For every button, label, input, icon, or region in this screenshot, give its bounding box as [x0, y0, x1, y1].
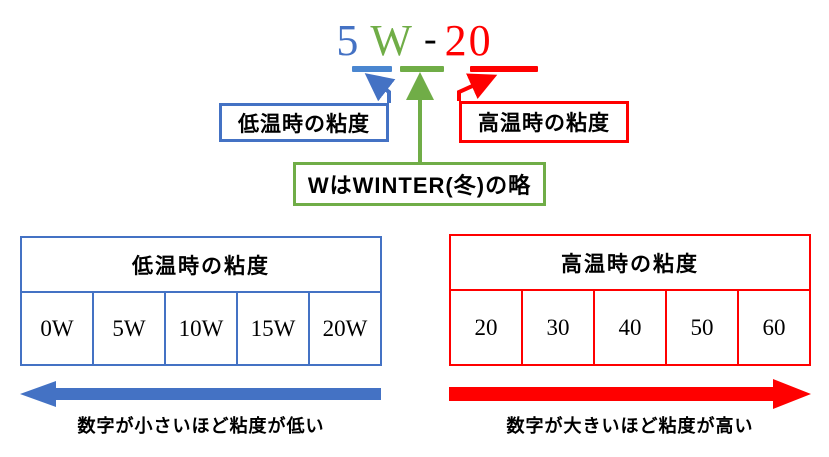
- hot-grade-cell: 20: [451, 291, 521, 364]
- diagram-canvas: 5W-20 低温時の粘度 高温時の粘度 WはWINTER(冬)の: [0, 0, 829, 457]
- hot-viscosity-callout-label: 高温時の粘度: [478, 107, 610, 137]
- cold-callout-connector: [371, 78, 389, 103]
- increasing-viscosity-caption: 数字が大きいほど粘度が高い: [449, 412, 811, 438]
- decreasing-viscosity-arrow: [20, 381, 381, 407]
- formula-cold-grade: 5: [336, 18, 360, 64]
- hot-viscosity-table-row: 20 30 40 50 60: [451, 291, 809, 364]
- hot-grade-cell: 60: [737, 291, 809, 364]
- decreasing-viscosity-caption: 数字が小さいほど粘度が低い: [20, 412, 382, 438]
- formula-winter-letter: W: [370, 18, 414, 64]
- hot-callout-connector: [459, 78, 490, 101]
- formula-dash: -: [424, 16, 439, 62]
- formula-hot-grade: 20: [445, 18, 493, 64]
- cold-viscosity-callout: 低温時の粘度: [219, 103, 389, 142]
- hot-grade-underline: [470, 66, 538, 72]
- winter-abbreviation-callout: WはWINTER(冬)の略: [293, 162, 546, 206]
- cold-grade-cell: 10W: [164, 293, 236, 364]
- winter-abbreviation-callout-label: WはWINTER(冬)の略: [308, 168, 531, 200]
- hot-viscosity-callout: 高温時の粘度: [459, 101, 629, 143]
- cold-viscosity-callout-label: 低温時の粘度: [238, 108, 370, 138]
- cold-grade-cell: 5W: [92, 293, 164, 364]
- cold-grade-cell: 15W: [236, 293, 308, 364]
- hot-viscosity-table: 高温時の粘度 20 30 40 50 60: [449, 234, 811, 366]
- cold-grade-cell: 20W: [308, 293, 380, 364]
- hot-grade-cell: 30: [521, 291, 593, 364]
- cold-viscosity-table-row: 0W 5W 10W 15W 20W: [22, 293, 380, 364]
- cold-viscosity-table: 低温時の粘度 0W 5W 10W 15W 20W: [20, 236, 382, 366]
- hot-viscosity-table-header: 高温時の粘度: [451, 236, 809, 291]
- increasing-viscosity-arrow: [449, 379, 811, 409]
- viscosity-grade-formula: 5W-20: [0, 18, 829, 66]
- cold-grade-underline: [352, 66, 392, 72]
- cold-viscosity-table-header: 低温時の粘度: [22, 238, 380, 293]
- winter-letter-underline: [400, 66, 444, 72]
- cold-grade-cell: 0W: [22, 293, 92, 364]
- hot-grade-cell: 50: [665, 291, 737, 364]
- hot-grade-cell: 40: [593, 291, 665, 364]
